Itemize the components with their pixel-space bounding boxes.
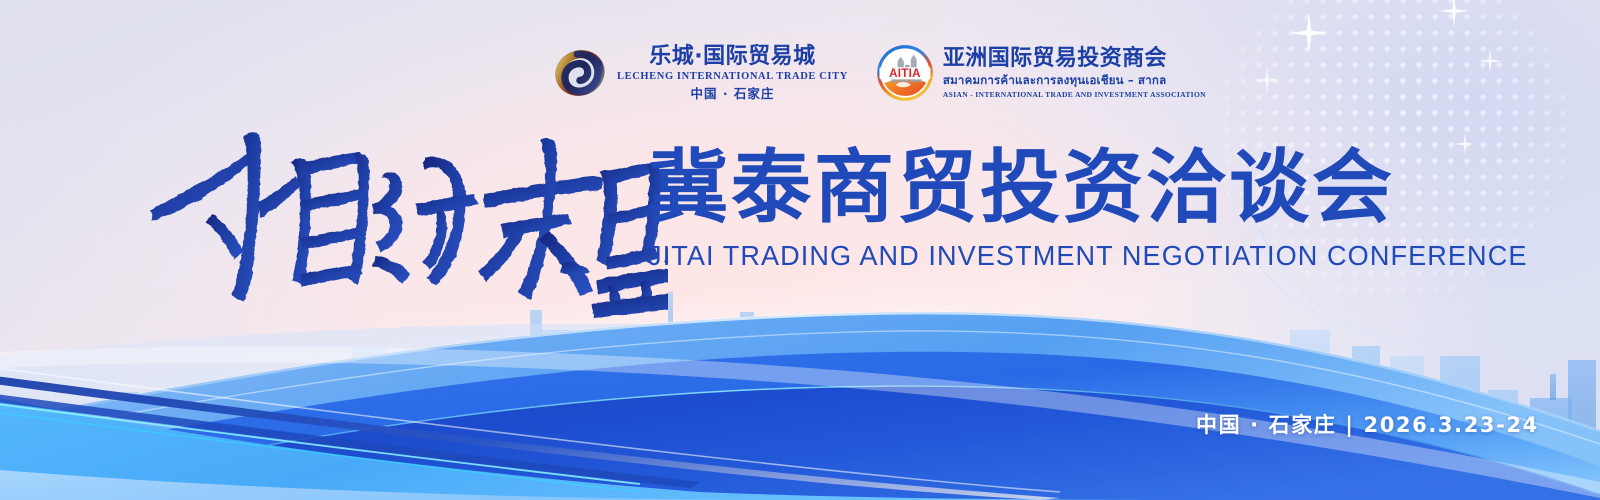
- headline-block: 冀泰商贸投资洽谈会 JITAI TRADING AND INVESTMENT N…: [648, 148, 1541, 272]
- event-date-location: 中国 · 石家庄 | 2026.3.23-24: [1196, 409, 1539, 439]
- event-banner: 乐城·国际贸易城 LECHENG INTERNATIONAL TRADE CIT…: [0, 0, 1600, 500]
- aitia-name-th: สมาคมการค้าและการลงทุนเอเชียน – สากล: [943, 75, 1166, 87]
- lecheng-name-cn: 乐城·国际贸易城: [649, 46, 815, 68]
- sparkle-icon: [1253, 66, 1281, 94]
- svg-text:AITIA: AITIA: [889, 67, 921, 80]
- aitia-name-en: ASIAN - INTERNATIONAL TRADE AND INVESTME…: [943, 91, 1206, 99]
- headline-title-en: JITAI TRADING AND INVESTMENT NEGOTIATION…: [648, 240, 1527, 272]
- aitia-name-cn: 亚洲国际贸易投资商会: [943, 48, 1167, 70]
- sparkle-icon: [1477, 48, 1503, 74]
- organizer-logos: 乐城·国际贸易城 LECHENG INTERNATIONAL TRADE CIT…: [552, 44, 1206, 102]
- lecheng-name-en: LECHENG INTERNATIONAL TRADE CITY: [617, 72, 848, 83]
- sparkle-icon: [1286, 10, 1332, 56]
- lecheng-ring-emblem-icon: [552, 45, 608, 101]
- calligraphy-xiangyue-dongmeng: [148, 118, 668, 318]
- logo-lecheng[interactable]: 乐城·国际贸易城 LECHENG INTERNATIONAL TRADE CIT…: [552, 45, 848, 101]
- logo-aitia[interactable]: AITIA 亚洲国际贸易投资商会 สมาคมการค้าและการลงทุนเ…: [876, 44, 1206, 102]
- headline-title-cn: 冀泰商贸投资洽谈会: [648, 148, 1541, 228]
- aitia-globe-emblem-icon: AITIA: [876, 44, 934, 102]
- lecheng-location: 中国 · 石家庄: [690, 88, 774, 101]
- sparkle-icon: [1437, 0, 1471, 28]
